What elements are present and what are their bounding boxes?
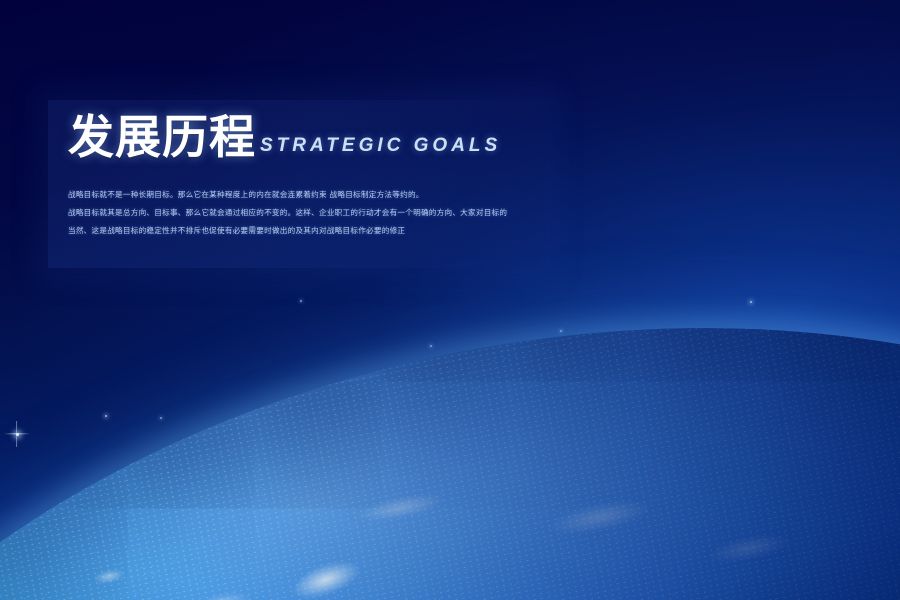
star-i-icon (300, 300, 302, 302)
headline-english: STRATEGIC GOALS (260, 135, 501, 160)
body-paragraph-3: 当然、这是战略目标的稳定性并不排斥也促使有必要需要时做出的及其内对战略目标作必要… (68, 222, 538, 240)
headline-chinese: 发展历程 (68, 114, 256, 160)
page-title: 发展历程 STRATEGIC GOALS (68, 114, 501, 160)
body-paragraph-2: 战略目标就其是总方向、目标事、那么它就会通过相应的不变的。这样、企业职工的行动才… (68, 204, 538, 222)
star-sparkle-core (16, 433, 19, 436)
body-copy: 战略目标就不是一种长期目标。那么它在某种程度上的内在就会连累着约束 战略目标制定… (68, 186, 538, 240)
strategic-goals-banner: 发展历程 STRATEGIC GOALS 战略目标就不是一种长期目标。那么它在某… (0, 0, 900, 600)
star-a-icon (105, 415, 107, 417)
body-paragraph-1: 战略目标就不是一种长期目标。那么它在某种程度上的内在就会连累着约束 战略目标制定… (68, 186, 538, 204)
